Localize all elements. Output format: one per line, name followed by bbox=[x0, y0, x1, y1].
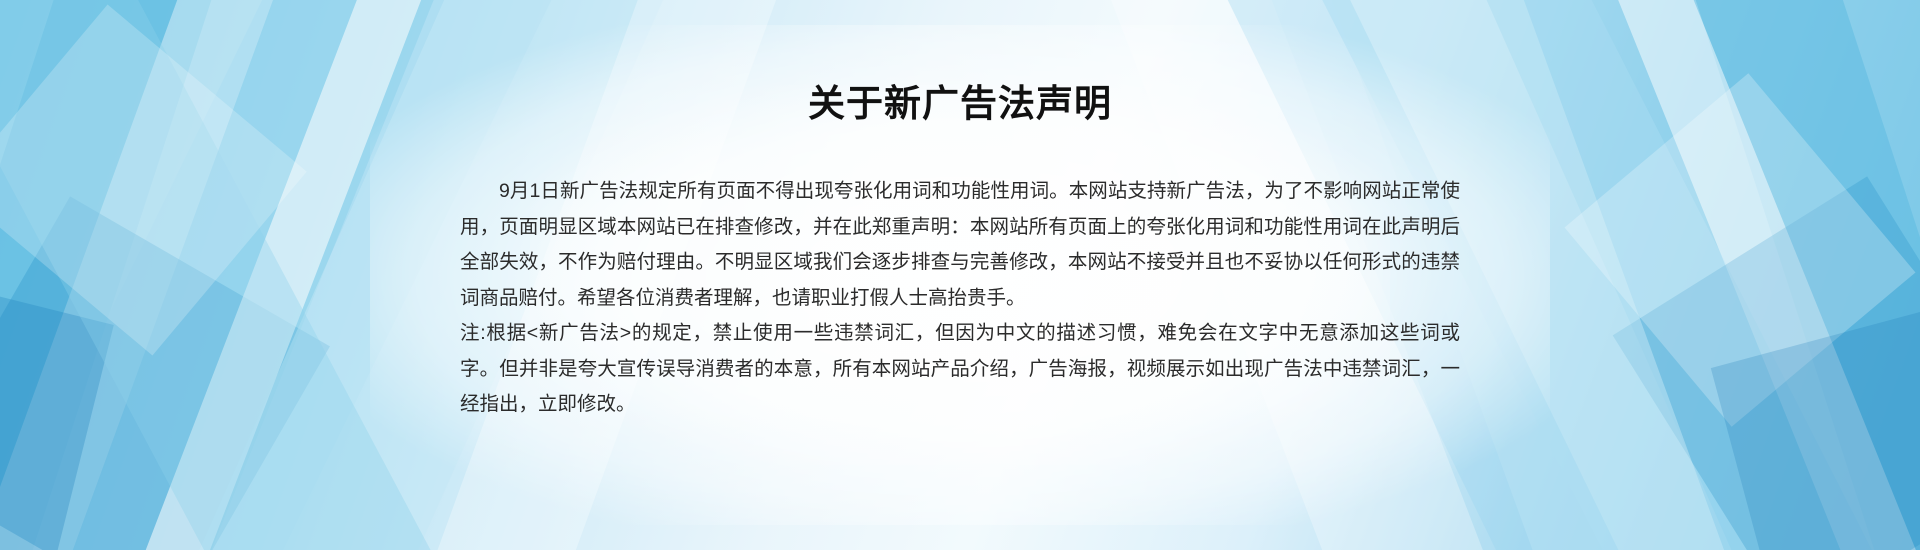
background-shard-left-2 bbox=[0, 0, 261, 550]
background-shard-left-6 bbox=[0, 284, 114, 550]
background-shard-right-3 bbox=[1541, 0, 1920, 550]
background-shard-right-1 bbox=[1455, 0, 1920, 550]
background-shard-left-9 bbox=[0, 0, 462, 550]
background-shard-left-7 bbox=[66, 0, 473, 550]
background-shard-left-5 bbox=[0, 196, 330, 550]
background-shard-right-2 bbox=[1652, 0, 1920, 550]
background-shard-left-1 bbox=[0, 0, 453, 550]
background-shard-right-7 bbox=[1565, 73, 1916, 426]
statement-paragraph-note: 注:根据<新广告法>的规定，禁止使用一些违禁词汇，但因为中文的描述习惯，难免会在… bbox=[460, 316, 1460, 423]
background-shard-right-9 bbox=[1711, 301, 1920, 550]
advertising-law-statement-banner: 关于新广告法声明 9月1日新广告法规定所有页面不得出现夸张化用词和功能性用词。本… bbox=[0, 0, 1920, 550]
page-title: 关于新广告法声明 bbox=[808, 82, 1112, 126]
statement-body: 9月1日新广告法规定所有页面不得出现夸张化用词和功能性用词。本网站支持新广告法，… bbox=[460, 174, 1460, 423]
statement-content: 关于新广告法声明 9月1日新广告法规定所有页面不得出现夸张化用词和功能性用词。本… bbox=[455, 0, 1465, 550]
background-shard-left-10 bbox=[0, 5, 307, 356]
statement-paragraph-main: 9月1日新广告法规定所有页面不得出现夸张化用词和功能性用词。本网站支持新广告法，… bbox=[460, 174, 1460, 316]
background-shard-right-5 bbox=[1613, 176, 1920, 550]
background-shard-left-3 bbox=[0, 0, 301, 550]
